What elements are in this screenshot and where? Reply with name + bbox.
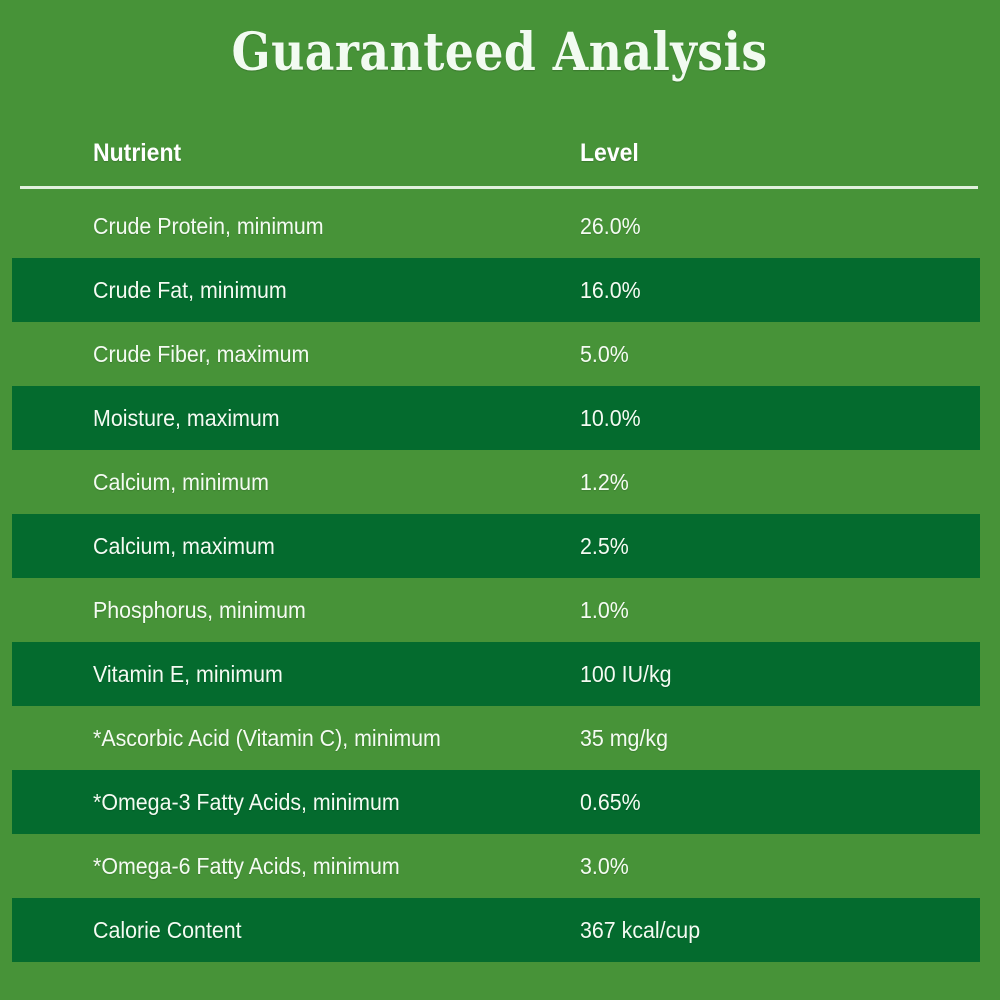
- cell-nutrient: *Ascorbic Acid (Vitamin C), minimum: [93, 724, 441, 752]
- table-row: *Omega-3 Fatty Acids, minimum0.65%: [0, 770, 1000, 834]
- cell-level: 2.5%: [580, 532, 629, 560]
- table-row: *Ascorbic Acid (Vitamin C), minimum35 mg…: [0, 706, 1000, 770]
- table-row: Phosphorus, minimum1.0%: [0, 578, 1000, 642]
- table-row: Calcium, maximum2.5%: [0, 514, 1000, 578]
- column-header-level: Level: [580, 138, 639, 168]
- cell-nutrient: Crude Fiber, maximum: [93, 340, 309, 368]
- cell-level: 35 mg/kg: [580, 724, 668, 752]
- table-row: Crude Fat, minimum16.0%: [0, 258, 1000, 322]
- page-title: Guaranteed Analysis: [232, 22, 768, 84]
- cell-nutrient: Calorie Content: [93, 916, 242, 944]
- table-row: Vitamin E, minimum100 IU/kg: [0, 642, 1000, 706]
- cell-nutrient: Calcium, maximum: [93, 532, 275, 560]
- cell-nutrient: Crude Protein, minimum: [93, 212, 324, 240]
- table-row: Moisture, maximum10.0%: [0, 386, 1000, 450]
- guaranteed-analysis-table: Nutrient Level Crude Protein, minimum26.…: [0, 128, 1000, 186]
- cell-level: 0.65%: [580, 788, 641, 816]
- cell-level: 3.0%: [580, 852, 629, 880]
- cell-level: 1.0%: [580, 596, 629, 624]
- table-row: *Omega-6 Fatty Acids, minimum3.0%: [0, 834, 1000, 898]
- column-header-nutrient: Nutrient: [93, 138, 181, 168]
- cell-level: 26.0%: [580, 212, 641, 240]
- cell-nutrient: Phosphorus, minimum: [93, 596, 306, 624]
- cell-level: 1.2%: [580, 468, 629, 496]
- cell-level: 367 kcal/cup: [580, 916, 700, 944]
- cell-nutrient: *Omega-6 Fatty Acids, minimum: [93, 852, 400, 880]
- table-row: Calcium, minimum1.2%: [0, 450, 1000, 514]
- cell-nutrient: Calcium, minimum: [93, 468, 269, 496]
- header-divider: [20, 186, 978, 189]
- cell-nutrient: *Omega-3 Fatty Acids, minimum: [93, 788, 400, 816]
- cell-level: 10.0%: [580, 404, 641, 432]
- page-title-container: Guaranteed Analysis: [0, 22, 1000, 84]
- table-row: Crude Fiber, maximum5.0%: [0, 322, 1000, 386]
- cell-level: 100 IU/kg: [580, 660, 672, 688]
- table-body: Crude Protein, minimum26.0%Crude Fat, mi…: [0, 194, 1000, 962]
- cell-nutrient: Crude Fat, minimum: [93, 276, 287, 304]
- cell-nutrient: Moisture, maximum: [93, 404, 280, 432]
- guaranteed-analysis-panel: Guaranteed Analysis Nutrient Level Crude…: [0, 0, 1000, 1000]
- cell-level: 5.0%: [580, 340, 629, 368]
- table-header-row: Nutrient Level: [0, 128, 1000, 186]
- table-row: Crude Protein, minimum26.0%: [0, 194, 1000, 258]
- cell-nutrient: Vitamin E, minimum: [93, 660, 283, 688]
- cell-level: 16.0%: [580, 276, 641, 304]
- table-row: Calorie Content367 kcal/cup: [0, 898, 1000, 962]
